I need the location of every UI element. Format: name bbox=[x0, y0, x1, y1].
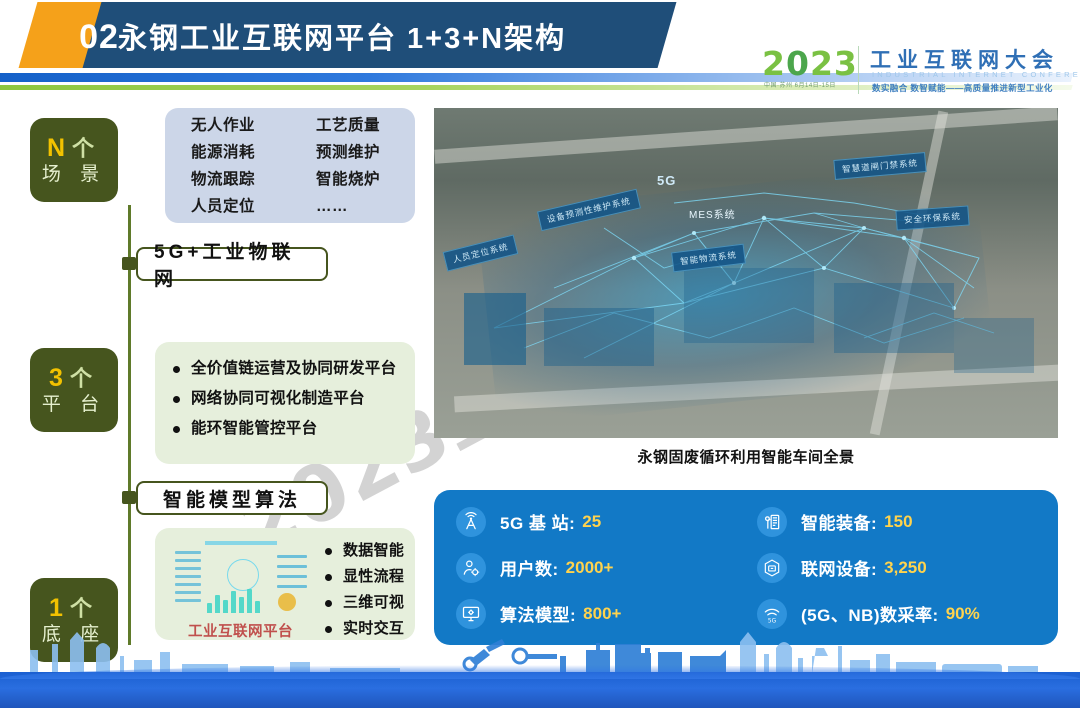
bullet-icon bbox=[173, 366, 180, 373]
bullet-icon bbox=[325, 548, 332, 555]
logo-date: 中国·苏州 6月14日-15日 bbox=[764, 80, 836, 89]
logo-slogan: 数实融合 数智赋能——高质量推进新型工业化 bbox=[872, 82, 1053, 94]
thumb-right-metrics bbox=[277, 555, 307, 595]
render-building bbox=[684, 268, 814, 343]
thumb-bar-chart bbox=[207, 587, 267, 613]
logo-divider bbox=[858, 46, 859, 94]
thumb-left-metrics bbox=[175, 551, 201, 607]
scene-item: 预测维护 bbox=[290, 139, 415, 166]
stat-item[interactable]: 5G 基 站: 25 bbox=[456, 500, 757, 544]
scene-item: 无人作业 bbox=[165, 112, 290, 139]
stage-row-bottom: 平 台 bbox=[42, 393, 106, 417]
scene-item: 能源消耗 bbox=[165, 139, 290, 166]
stage-box-platforms[interactable]: 3个 平 台 bbox=[30, 348, 118, 432]
stage-row-top: N个 bbox=[47, 134, 101, 163]
render-building bbox=[464, 293, 526, 365]
5g-wifi-icon: 5G bbox=[757, 599, 787, 629]
stat-label: 算法模型: bbox=[500, 601, 576, 626]
scene-item: …… bbox=[290, 193, 415, 220]
svg-text:5G: 5G bbox=[768, 618, 777, 624]
scene-item: 物流跟踪 bbox=[165, 166, 290, 193]
platform-label: 网络协同可视化制造平台 bbox=[191, 384, 365, 414]
connector-nub-iot bbox=[122, 257, 136, 270]
scene-item: 人员定位 bbox=[165, 193, 290, 220]
feature-label: 数据智能 bbox=[343, 538, 404, 564]
stat-value: 800+ bbox=[583, 604, 621, 624]
slide-root: 02 永钢工业互联网平台 1+3+N架构 2023 中国·苏州 6月14日-15… bbox=[0, 0, 1080, 708]
render-building bbox=[954, 318, 1034, 373]
bullet-icon bbox=[325, 574, 332, 581]
list-item: 能环智能管控平台 bbox=[155, 414, 415, 444]
conference-logo: 2023 中国·苏州 6月14日-15日 工业互联网大会 INDUSTRIAL … bbox=[762, 44, 1068, 100]
base-panel: 工业互联网平台 数据智能 显性流程 三维可视 实时交互 bbox=[155, 528, 415, 640]
footer-bar bbox=[0, 672, 1080, 708]
5g-tower-icon bbox=[456, 507, 486, 537]
page-title: 永钢工业互联网平台 1+3+N架构 bbox=[118, 8, 658, 64]
bullet-icon bbox=[173, 426, 180, 433]
stat-label: (5G、NB)数采率: bbox=[801, 601, 939, 626]
feature-label: 三维可视 bbox=[343, 590, 404, 616]
stat-label: 联网设备: bbox=[801, 555, 877, 580]
stat-label: 智能装备: bbox=[801, 509, 877, 534]
platform-screenshot-thumbnail[interactable] bbox=[169, 537, 312, 617]
thumb-avatar bbox=[278, 593, 296, 611]
feature-label: 显性流程 bbox=[343, 564, 404, 590]
connector-spine bbox=[128, 205, 131, 645]
logo-year: 2023 bbox=[762, 44, 858, 83]
stats-panel: 5G 基 站: 25 智能装备: 150 用户数: 2000+ bbox=[434, 490, 1058, 645]
pill-iot[interactable]: 5G+工业物联网 bbox=[136, 247, 328, 281]
stat-value: 150 bbox=[884, 512, 912, 532]
platform-label: 全价值链运营及协同研发平台 bbox=[191, 354, 396, 384]
scene-item: 智能烧炉 bbox=[290, 166, 415, 193]
platforms-panel: 全价值链运营及协同研发平台 网络协同可视化制造平台 能环智能管控平台 bbox=[155, 342, 415, 464]
stat-value: 3,250 bbox=[884, 558, 927, 578]
factory-3d-render: 人员定位系统 设备预测性维护系统 MES系统 智能物流系统 智慧道闸门禁系统 安… bbox=[434, 108, 1058, 438]
stage-row-bottom: 场 景 bbox=[42, 163, 106, 187]
smart-device-icon bbox=[757, 507, 787, 537]
stat-label: 5G 基 站: bbox=[500, 509, 575, 534]
bullet-icon bbox=[325, 600, 332, 607]
stage-row-top: 3个 bbox=[49, 364, 99, 393]
stat-label: 用户数: bbox=[500, 555, 559, 580]
pill-algorithm[interactable]: 智能模型算法 bbox=[136, 481, 328, 515]
bullet-icon bbox=[173, 396, 180, 403]
stat-item[interactable]: 联网设备: 3,250 bbox=[757, 546, 1058, 590]
render-label-5g: 5G bbox=[650, 170, 683, 191]
iot-shield-icon bbox=[757, 553, 787, 583]
monitor-gear-icon bbox=[456, 599, 486, 629]
scenes-panel: 无人作业 工艺质量 能源消耗 预测维护 物流跟踪 智能烧炉 人员定位 …… bbox=[165, 108, 415, 223]
logo-name-en: INDUSTRIAL INTERNET CONFERENCE bbox=[872, 70, 1080, 79]
stage-row-top: 1个 bbox=[49, 594, 99, 623]
render-building bbox=[834, 283, 954, 353]
figure-caption: 永钢固废循环利用智能车间全景 bbox=[434, 446, 1058, 467]
connector-nub-algo bbox=[122, 491, 136, 504]
stat-value: 2000+ bbox=[566, 558, 614, 578]
user-gear-icon bbox=[456, 553, 486, 583]
list-item: 全价值链运营及协同研发平台 bbox=[155, 354, 415, 384]
platform-label: 能环智能管控平台 bbox=[191, 414, 317, 444]
render-label: MES系统 bbox=[682, 203, 743, 224]
stat-value: 90% bbox=[946, 604, 980, 624]
render-building bbox=[544, 308, 654, 366]
thumb-title-bar bbox=[205, 541, 277, 545]
scene-item: 工艺质量 bbox=[290, 112, 415, 139]
stage-box-scenes[interactable]: N个 场 景 bbox=[30, 118, 118, 202]
stat-item[interactable]: 用户数: 2000+ bbox=[456, 546, 757, 590]
stat-value: 25 bbox=[582, 512, 601, 532]
list-item: 网络协同可视化制造平台 bbox=[155, 384, 415, 414]
stat-item[interactable]: 智能装备: 150 bbox=[757, 500, 1058, 544]
